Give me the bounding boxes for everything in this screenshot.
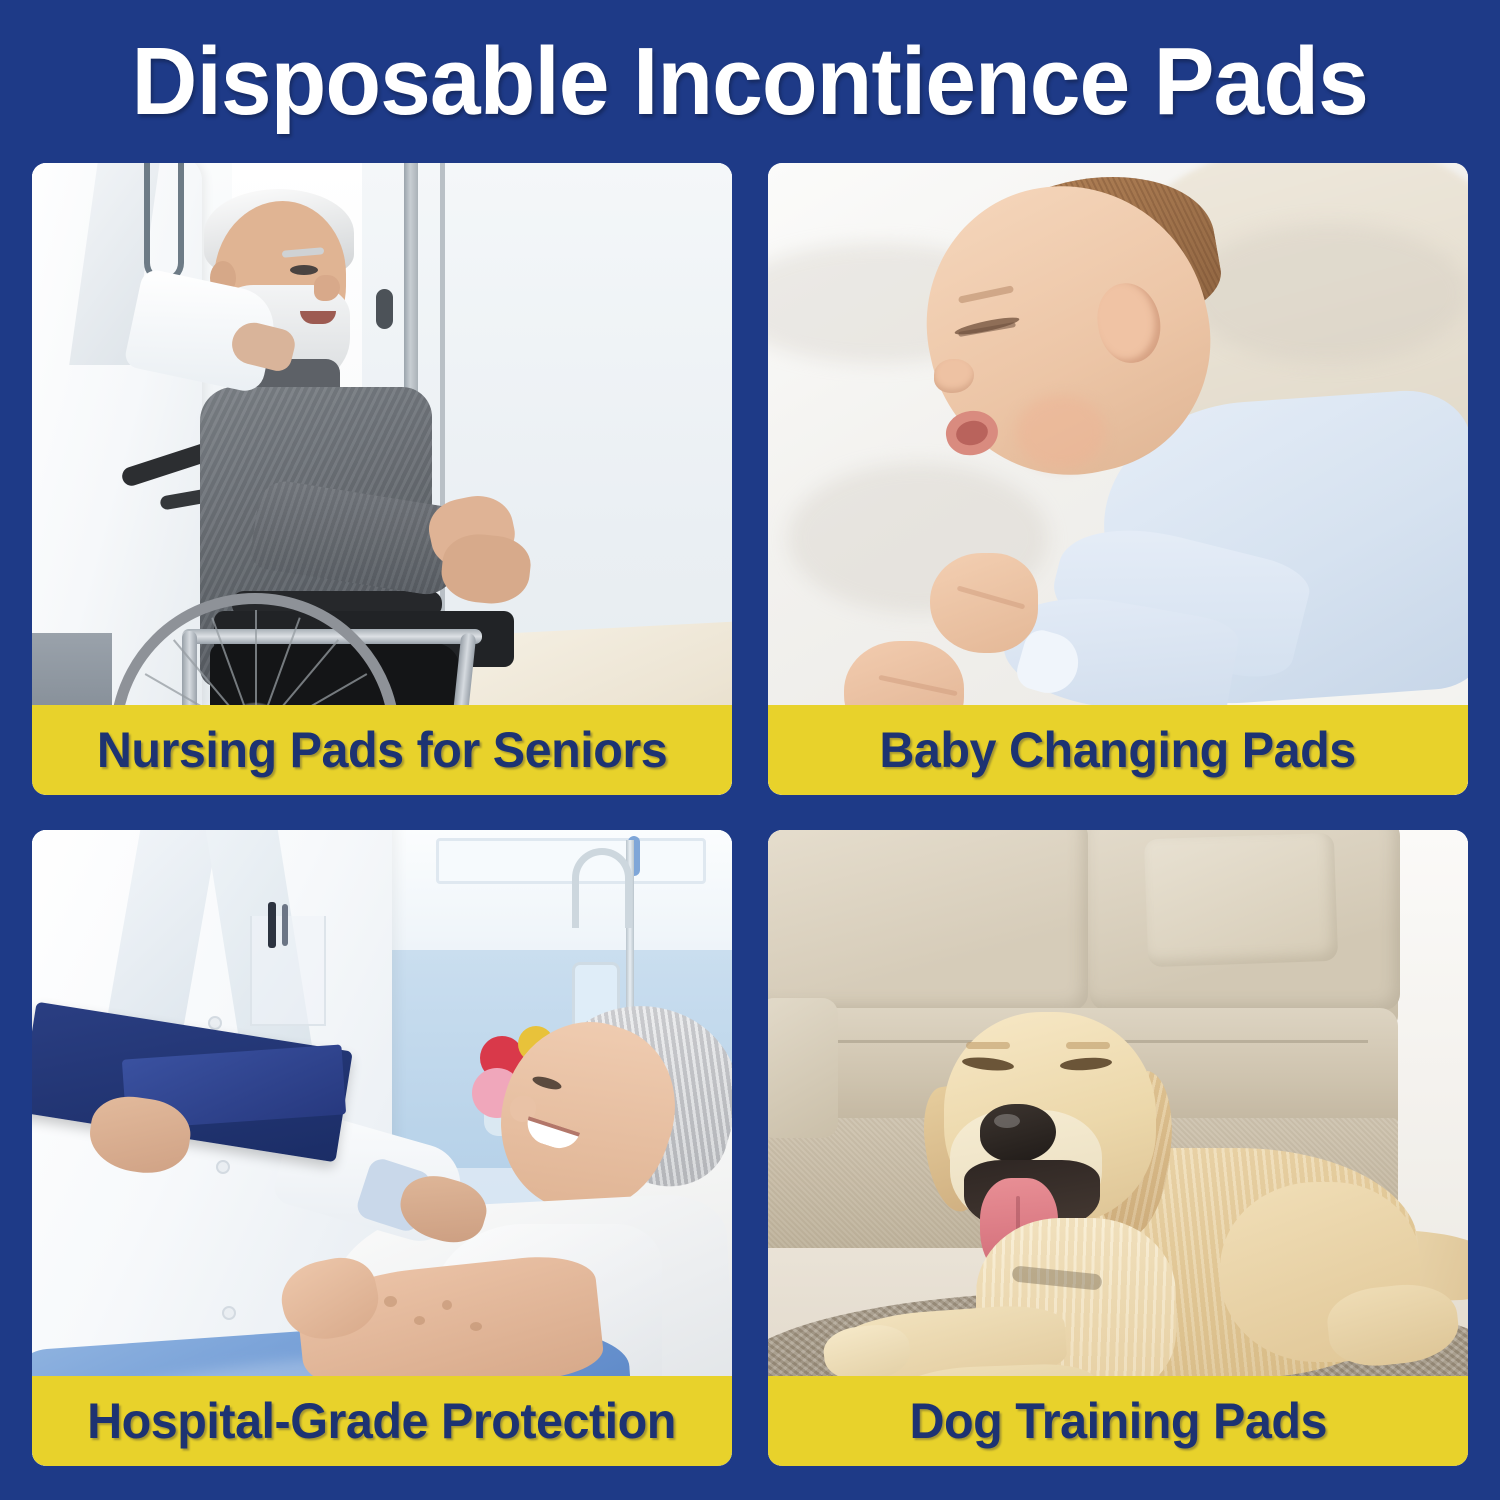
feature-card-baby-changing-pads[interactable]: Baby Changing Pads [768,163,1468,795]
throw-pillow [1144,833,1338,968]
photo-golden-retriever-on-rug [768,830,1468,1466]
caption-bar-nursing-pads-for-seniors: Nursing Pads for Seniors [32,705,732,795]
doctor-coat-pocket [250,916,326,1026]
hospital-window [436,838,706,884]
dog-nose-highlight [994,1114,1020,1128]
age-spot [470,1322,482,1331]
coat-button [222,1306,236,1320]
photo-senior-in-wheelchair [32,163,732,795]
stethoscope-icon [144,163,184,283]
pen-icon-secondary [282,904,288,946]
feature-grid: Nursing Pads for Seniors [32,163,1468,1466]
age-spot [442,1300,452,1310]
caption-bar-dog-training-pads: Dog Training Pads [768,1376,1468,1466]
age-spot [414,1316,425,1325]
coat-button [216,1160,230,1174]
caption-label: Nursing Pads for Seniors [97,721,667,779]
pen-icon [268,902,276,948]
page-title: Disposable Incontience Pads [132,34,1368,130]
sofa-cushion-left [768,830,1088,1010]
caption-label: Hospital-Grade Protection [88,1392,677,1450]
page-header: Disposable Incontience Pads [0,0,1500,163]
feature-card-nursing-pads-for-seniors[interactable]: Nursing Pads for Seniors [32,163,732,795]
feature-card-hospital-grade-protection[interactable]: Hospital-Grade Protection [32,830,732,1466]
iv-hook [572,848,632,928]
caption-bar-baby-changing-pads: Baby Changing Pads [768,705,1468,795]
photo-sleeping-baby [768,163,1468,795]
sheet-fold [1188,223,1468,363]
door-handle [376,289,393,329]
age-spot [384,1296,397,1307]
baby-cheek [1016,395,1106,469]
coat-button [208,1016,222,1030]
sofa-armrest [768,998,838,1138]
feature-card-dog-training-pads[interactable]: Dog Training Pads [768,830,1468,1466]
caption-label: Dog Training Pads [909,1392,1327,1450]
senior-eye [290,265,318,275]
caption-bar-hospital-grade-protection: Hospital-Grade Protection [32,1376,732,1466]
dog-eyebrow-right [1066,1042,1110,1049]
caption-label: Baby Changing Pads [880,721,1356,779]
dog-eyebrow-left [966,1042,1010,1049]
photo-hospital-bed-scene [32,830,732,1466]
